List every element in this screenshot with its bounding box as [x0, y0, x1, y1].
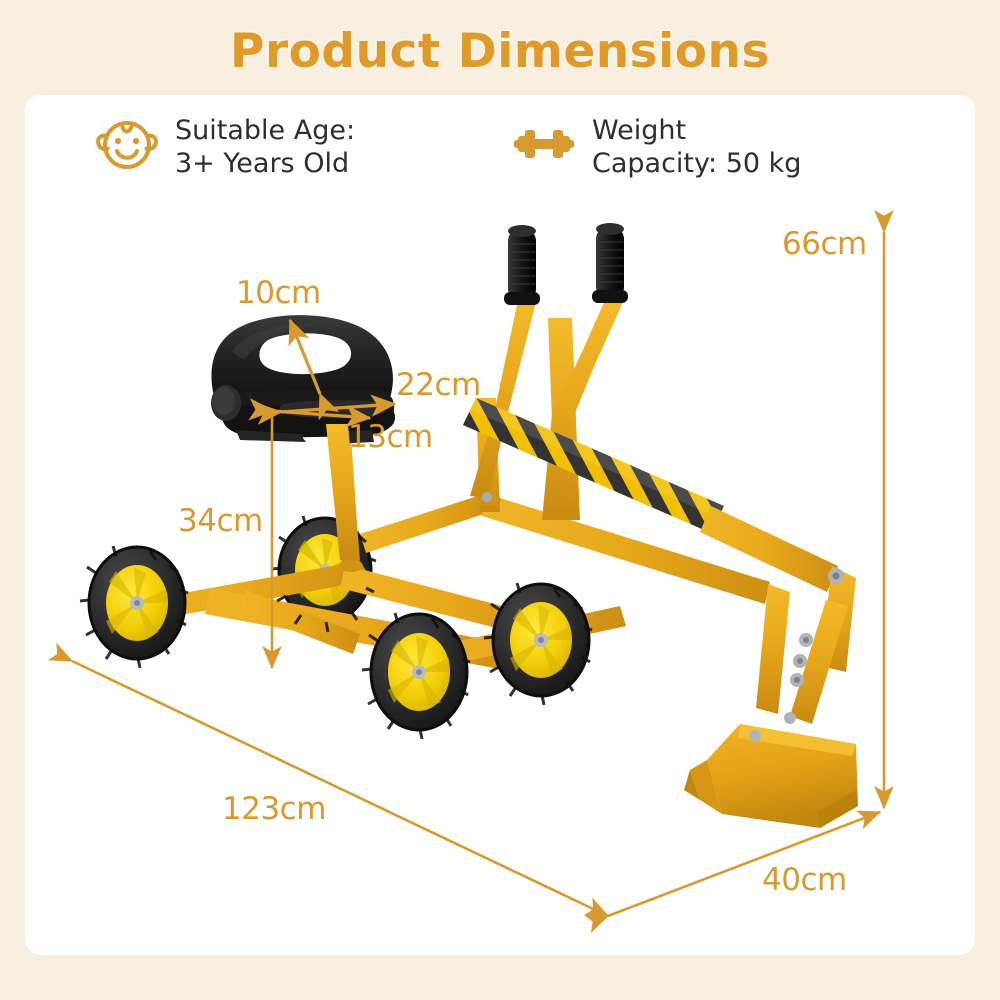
grip-right — [592, 223, 628, 303]
dimension-label-seat-depth: 13cm — [348, 419, 433, 455]
dimension-label-overall-length: 123cm — [222, 791, 326, 827]
dimension-label-seat-height: 34cm — [178, 503, 263, 539]
dimension-label-backrest-height: 10cm — [236, 275, 321, 311]
dimension-label-overall-width: 40cm — [762, 862, 847, 898]
wheel-front-right — [484, 583, 592, 705]
boom-arm-hazard — [455, 390, 745, 545]
boom-arm-lower — [700, 506, 856, 724]
wheel-far-left — [80, 546, 188, 668]
product-illustration — [0, 0, 1000, 1000]
excavator-bucket — [684, 712, 858, 828]
dimension-label-seat-width: 22cm — [396, 367, 481, 403]
grip-left — [504, 225, 540, 305]
infographic-page: Product Dimensions Suitable Age: 3+ Year… — [0, 0, 1000, 1000]
dimension-label-overall-height: 66cm — [782, 226, 867, 262]
